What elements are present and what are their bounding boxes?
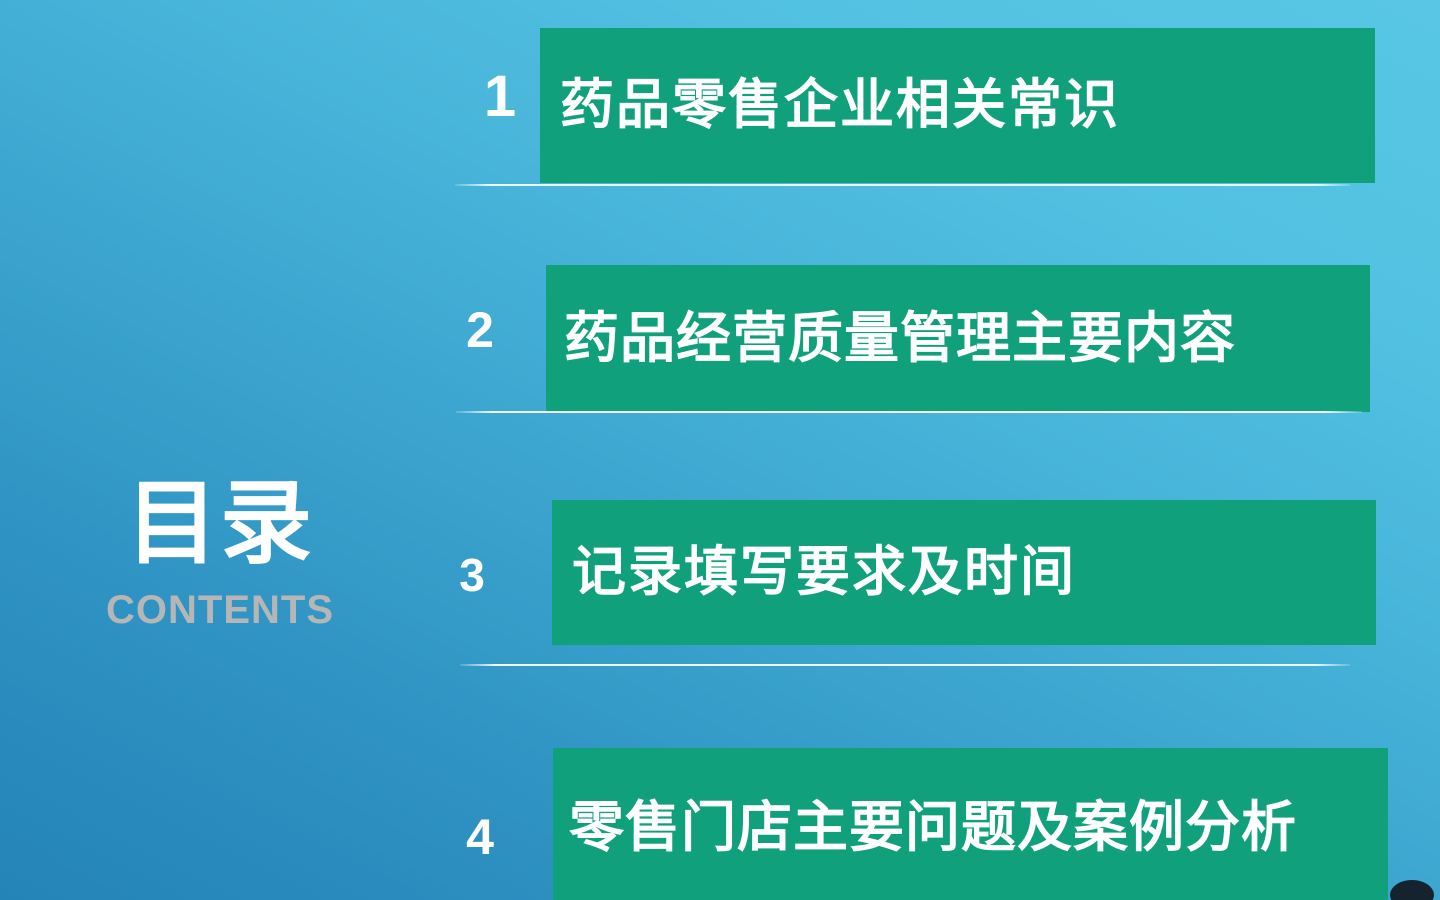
item-bar[interactable]: 药品经营质量管理主要内容 — [546, 265, 1370, 412]
item-number: 3 — [432, 552, 512, 598]
item-label: 药品零售企业相关常识 — [560, 77, 1120, 134]
item-label: 记录填写要求及时间 — [572, 544, 1076, 601]
item-number: 4 — [440, 812, 520, 862]
item-bar[interactable]: 记录填写要求及时间 — [552, 500, 1376, 645]
item-label: 药品经营质量管理主要内容 — [564, 310, 1236, 368]
item-bar[interactable]: 零售门店主要问题及案例分析 — [553, 748, 1388, 900]
item-number: 1 — [460, 68, 540, 126]
item-number: 2 — [440, 305, 520, 355]
contents-slide: 目录 CONTENTS 1 药品零售企业相关常识 2 药品经营质量管理主要内容 … — [0, 0, 1440, 900]
item-divider — [460, 664, 1350, 666]
item-bar[interactable]: 药品零售企业相关常识 — [540, 28, 1375, 183]
item-divider — [455, 184, 1350, 186]
item-divider — [456, 411, 1362, 413]
item-label: 零售门店主要问题及案例分析 — [569, 799, 1297, 857]
contents-list: 1 药品零售企业相关常识 2 药品经营质量管理主要内容 3 记录填写要求及时间 … — [0, 0, 1440, 900]
